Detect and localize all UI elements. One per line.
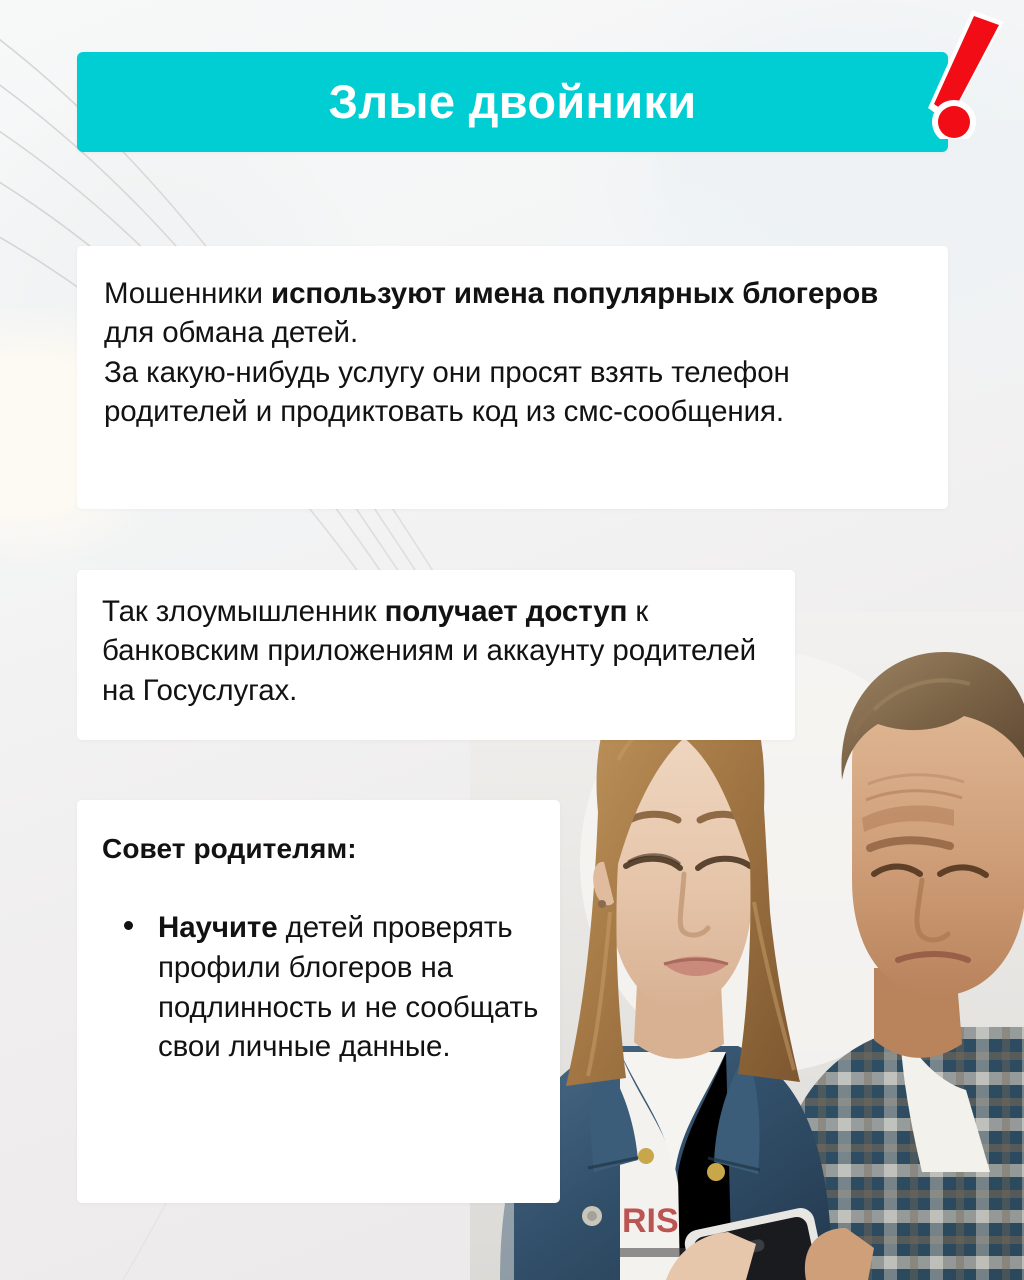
advice-title: Совет родителям: <box>102 833 357 865</box>
consequence-text: Так злоумышленник получает доступ к банк… <box>102 592 779 710</box>
card-consequence: Так злоумышленник получает доступ к банк… <box>77 570 795 740</box>
fraud-text-part-2: для обмана детей. <box>104 316 358 349</box>
page-title: Злые двойники <box>329 78 697 125</box>
exclamation-mark-icon <box>920 4 1010 139</box>
bullet-icon <box>124 921 133 930</box>
advice-item-bold: Научите <box>158 911 278 944</box>
fraud-text-bold: используют имена популярных блогеров <box>271 277 878 310</box>
card-advice: Совет родителям: Научите детей проверять… <box>77 800 560 1203</box>
fraud-text-part-1: Мошенники <box>104 277 271 310</box>
svg-text:RIS: RIS <box>622 1202 679 1240</box>
poster-root: RIS <box>0 0 1024 1280</box>
consequence-text-bold: получает доступ <box>385 595 628 628</box>
fraud-text-part-3: За какую-нибудь услугу они просят взять … <box>104 356 790 428</box>
consequence-text-part-1: Так злоумышленник <box>102 595 385 628</box>
header-banner: Злые двойники <box>77 52 948 152</box>
advice-list: Научите детей проверять профили блогеров… <box>102 908 546 1067</box>
advice-list-item: Научите детей проверять профили блогеров… <box>102 908 546 1067</box>
fraud-description-text: Мошенники используют имена популярных бл… <box>104 274 930 432</box>
card-fraud-description: Мошенники используют имена популярных бл… <box>77 246 948 509</box>
